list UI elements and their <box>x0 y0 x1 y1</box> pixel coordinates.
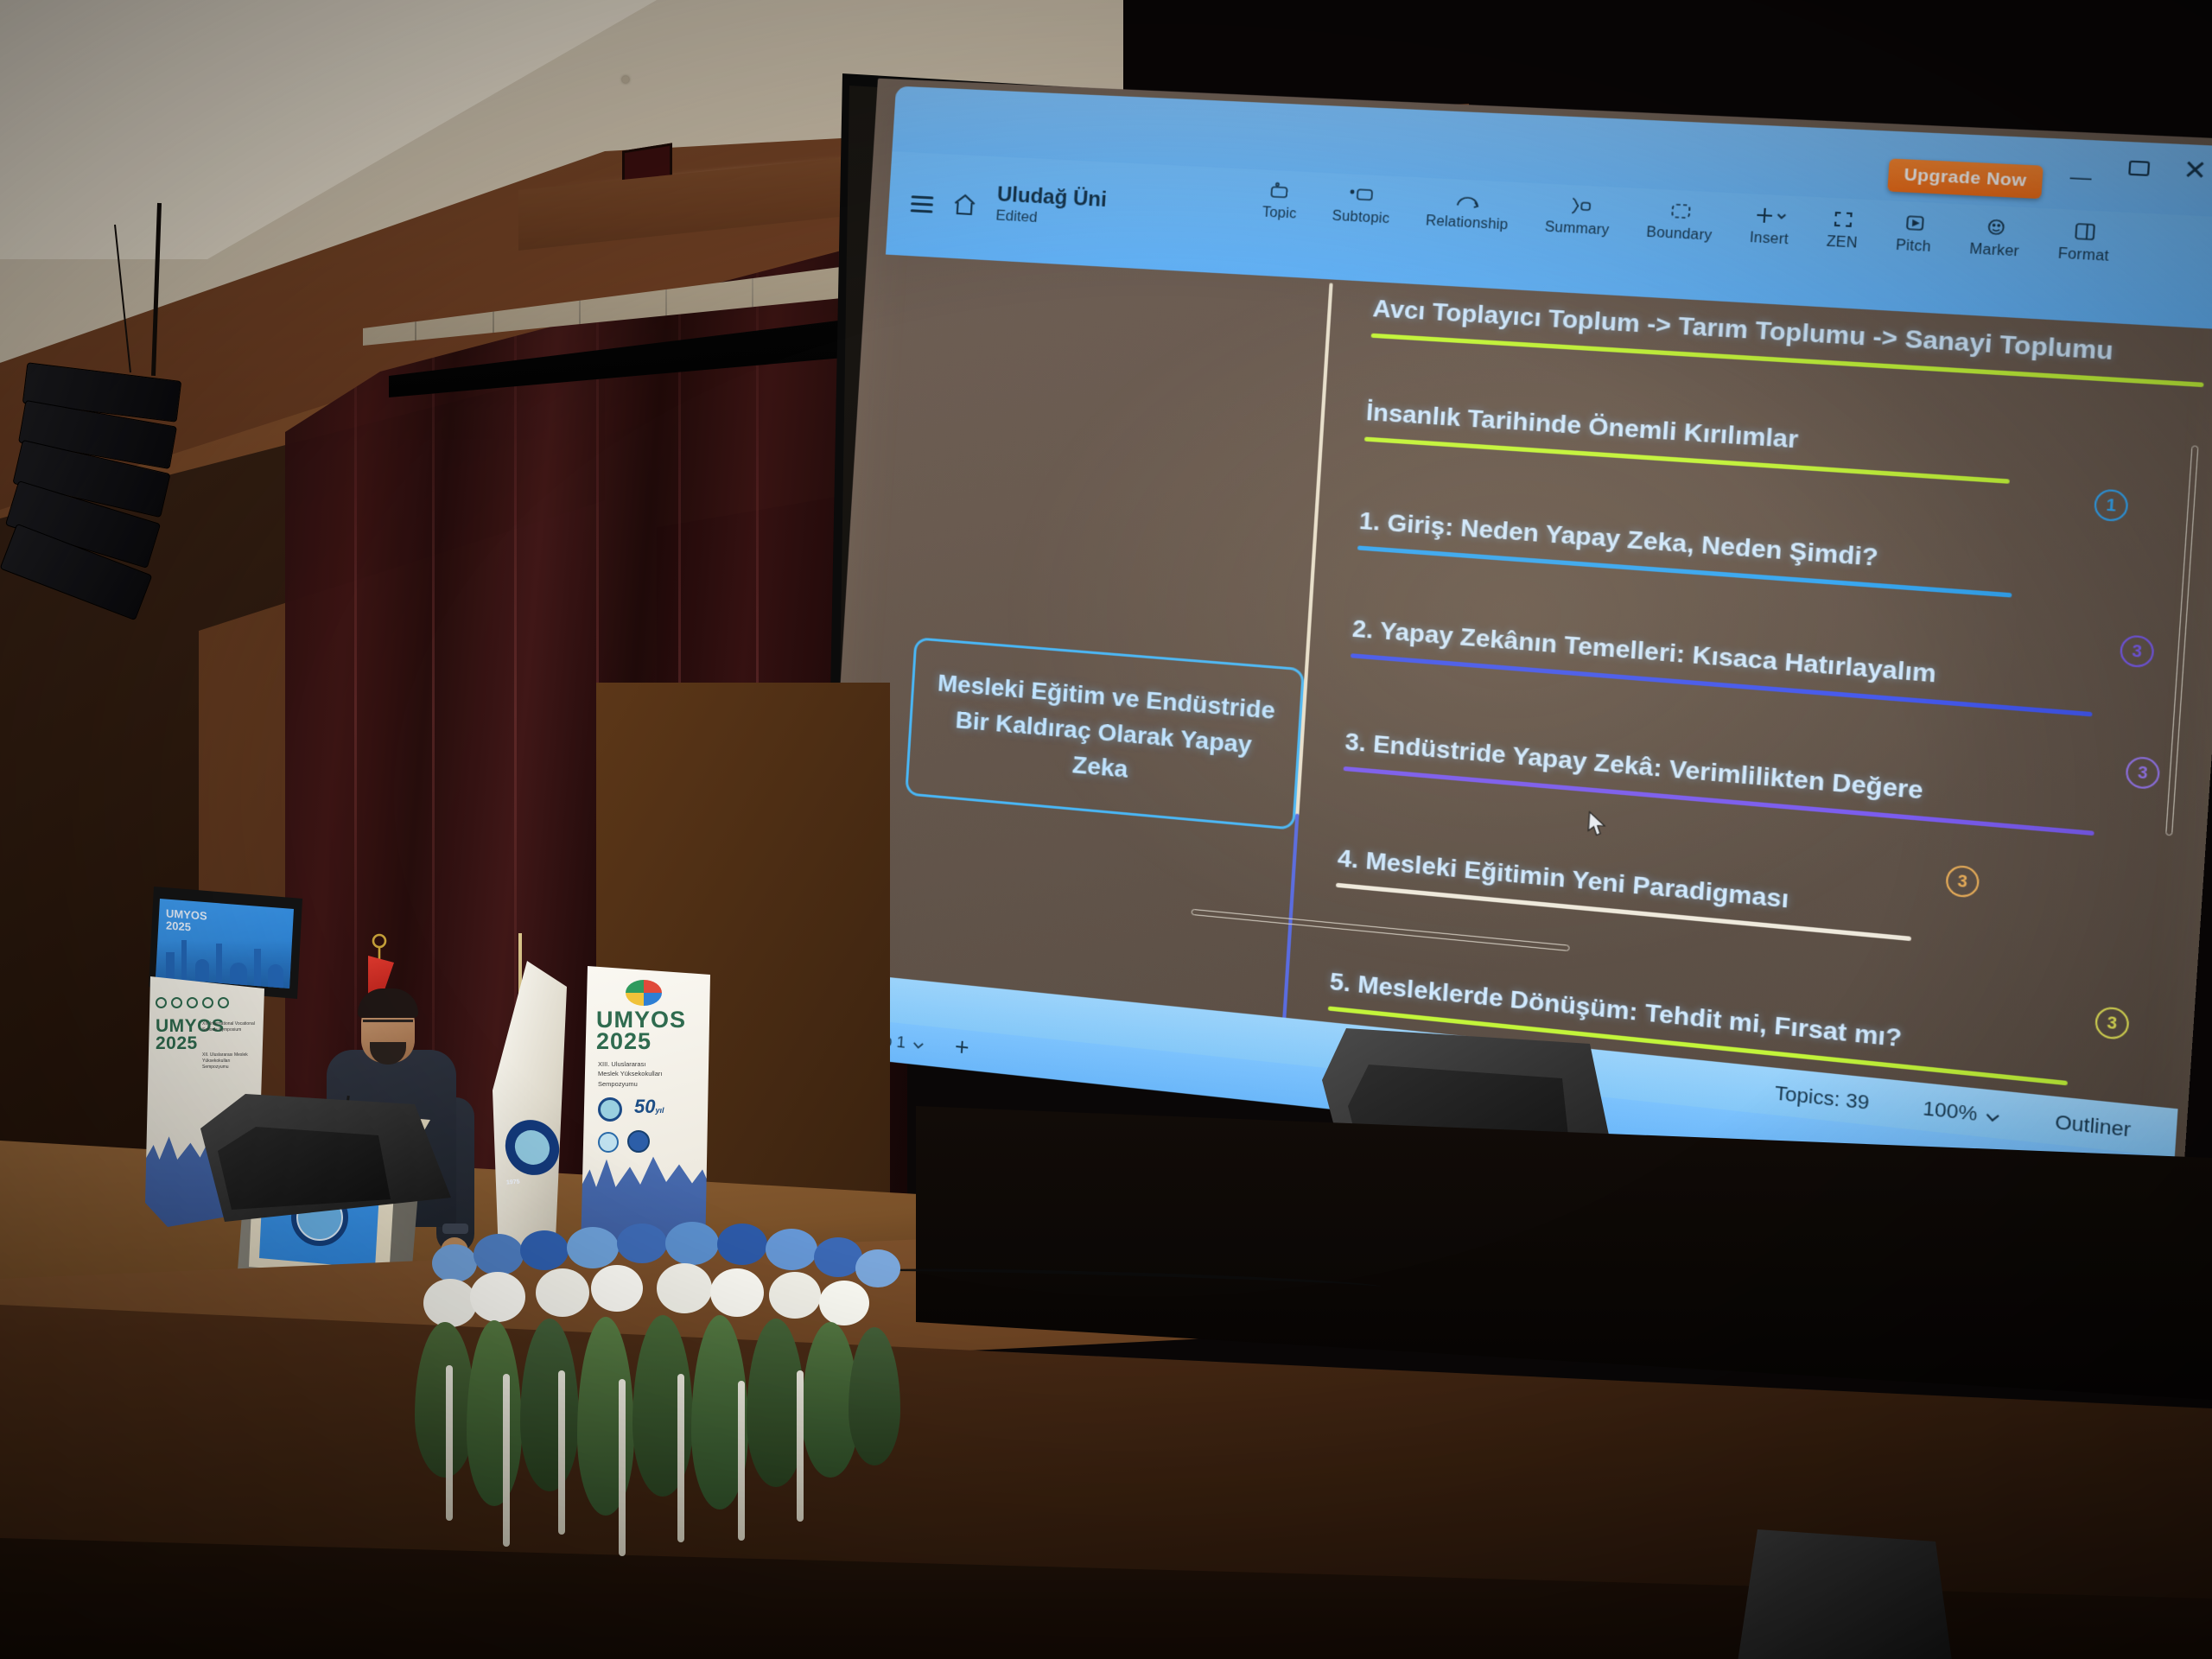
branch-badge[interactable]: 3 <box>2094 1006 2130 1040</box>
tool-subtopic[interactable]: Subtopic <box>1332 179 1392 228</box>
pitch-play-icon <box>1897 207 1934 239</box>
banner-left-subtitle-tr: XII. Uluslararası Meslek Yüksekokulları … <box>202 1052 256 1070</box>
close-icon[interactable]: ✕ <box>2182 157 2208 186</box>
tool-topic[interactable]: Topic <box>1262 175 1299 223</box>
summary-icon <box>1545 189 1611 223</box>
root-topic[interactable]: Mesleki Eğitim ve Endüstride Bir Kaldıra… <box>905 637 1305 829</box>
horizontal-scrollbar[interactable] <box>1191 909 1569 951</box>
vertical-scrollbar[interactable] <box>2165 445 2198 836</box>
upgrade-now-button[interactable]: Upgrade Now <box>1887 158 2043 199</box>
tool-pitch[interactable]: Pitch <box>1895 207 1933 256</box>
hamburger-menu-icon[interactable] <box>910 195 933 219</box>
branch-topic: İnsanlık Tarihinde Önemli Kırılımlar 1 <box>1364 397 2012 483</box>
relationship-icon <box>1427 183 1511 218</box>
tool-topic-label: Topic <box>1262 205 1297 222</box>
tool-pitch-label: Pitch <box>1895 238 1931 256</box>
banner-left-year: 2025 <box>156 1033 198 1053</box>
banner-right-sub1: XIII. Uluslararası <box>598 1060 645 1068</box>
branch-badge[interactable]: 3 <box>1945 864 1980 898</box>
umyos-logo-icon <box>626 980 662 1006</box>
speaker-glasses <box>363 1020 413 1032</box>
add-sheet-button[interactable] <box>952 1038 970 1062</box>
trunk-line-upper <box>1293 283 1333 865</box>
stage-shadow-right <box>916 1106 2212 1400</box>
tool-format[interactable]: Format <box>2057 214 2112 265</box>
view-mode-outliner[interactable]: Outliner <box>2054 1110 2131 1142</box>
line-array-speaker <box>9 363 190 648</box>
subtopic-icon <box>1332 179 1392 212</box>
branch-label[interactable]: 1. Giriş: Neden Yapay Zeka, Neden Şimdi? <box>1357 506 2014 593</box>
zen-icon <box>1827 203 1859 236</box>
mouse-cursor-icon <box>1586 810 1608 843</box>
flag-founded-year: 1975 <box>506 1179 520 1185</box>
branch-topic: 1. Giriş: Neden Yapay Zeka, Neden Şimdi? <box>1357 506 2015 597</box>
monitor-title: UMYOS2025 <box>166 907 207 934</box>
maximize-icon[interactable] <box>2128 161 2150 176</box>
tool-insert-label: Insert <box>1749 230 1789 248</box>
topic-icon <box>1262 175 1299 207</box>
xmind-window: Upgrade Now — ✕ <box>817 79 2212 1201</box>
uludag-seal-icon <box>598 1097 622 1122</box>
topics-count: Topics: 39 <box>1774 1082 1870 1116</box>
plus-icon <box>1750 200 1790 232</box>
tool-format-label: Format <box>2057 246 2109 265</box>
anniversary-badge: 50yıl <box>634 1096 664 1118</box>
confidence-monitor-screen: UMYOS2025 <box>156 899 294 988</box>
tool-subtopic-label: Subtopic <box>1332 208 1390 227</box>
partner-logo-2 <box>627 1130 650 1153</box>
tool-summary[interactable]: Summary <box>1544 189 1611 239</box>
chevron-down-icon[interactable] <box>912 1035 925 1055</box>
tool-insert[interactable]: Insert <box>1749 200 1791 249</box>
auditorium-scene: Upgrade Now — ✕ <box>0 0 2212 1659</box>
boundary-icon <box>1647 194 1714 228</box>
branch-label[interactable]: İnsanlık Tarihinde Önemli Kırılımlar <box>1364 397 2012 479</box>
partner-logo-1 <box>598 1132 619 1153</box>
document-name[interactable]: Uludağ Üni Edited <box>995 182 1108 229</box>
branch-badge[interactable]: 3 <box>2120 634 2155 668</box>
tool-marker-label: Marker <box>1969 242 2020 261</box>
tool-relationship[interactable]: Relationship <box>1425 183 1510 234</box>
equipment-case <box>1737 1529 1953 1659</box>
branch-badge[interactable]: 1 <box>2094 488 2129 522</box>
search-icon[interactable] <box>891 1076 922 1108</box>
minimize-icon[interactable]: — <box>2069 167 2093 188</box>
banner-right-sub2: Meslek Yüksekokulları <box>598 1070 662 1077</box>
banner-right-sub3: Sempozyumu <box>598 1080 638 1088</box>
tool-zen[interactable]: ZEN <box>1826 203 1860 252</box>
branch-topic: 4. Mesleki Eğitimin Yeni Paradigması 3 <box>1336 844 1914 941</box>
chevron-down-icon[interactable] <box>1984 1103 2001 1128</box>
tool-marker[interactable]: Marker <box>1969 210 2022 260</box>
banner-right-year: 2025 <box>596 1028 652 1054</box>
marker-smiley-icon <box>1970 210 2022 244</box>
branch-badge[interactable]: 3 <box>2125 756 2160 791</box>
tool-zen-label: ZEN <box>1826 234 1858 252</box>
zoom-level[interactable]: 100% <box>1922 1096 1978 1126</box>
format-panel-icon <box>2058 214 2111 248</box>
banner-left-subtitle-en: XII. International Vocational Schools Sy… <box>202 1021 256 1033</box>
tool-relationship-label: Relationship <box>1425 213 1509 234</box>
tool-boundary-label: Boundary <box>1646 225 1713 245</box>
stage-monitor-left-grille <box>218 1127 391 1210</box>
mindmap-canvas[interactable]: Mesleki Eğitim ve Endüstride Bir Kaldıra… <box>841 251 2212 1115</box>
home-icon[interactable] <box>951 192 979 219</box>
branch-topic: 3. Endüstride Yapay Zekâ: Verimlilikten … <box>1344 728 2097 836</box>
branch-topic: 2. Yapay Zekânın Temelleri: Kısaca Hatır… <box>1351 614 2095 716</box>
floral-arrangement <box>406 1218 907 1555</box>
tool-boundary[interactable]: Boundary <box>1646 194 1714 245</box>
ceiling-bolt <box>622 76 629 83</box>
tool-summary-label: Summary <box>1544 219 1610 239</box>
